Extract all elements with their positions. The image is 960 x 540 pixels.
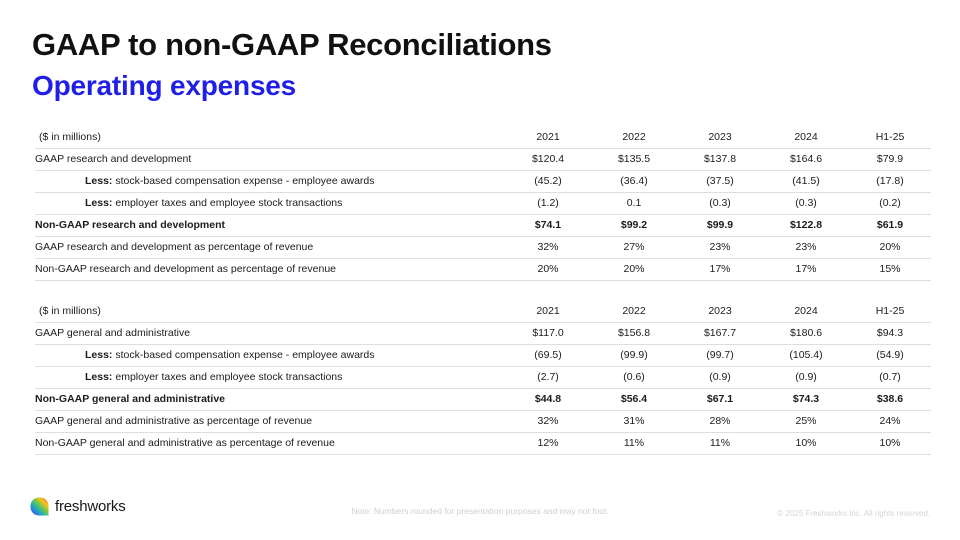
cell-2022: 20%: [591, 258, 677, 280]
cell-2024: $164.6: [763, 148, 849, 170]
cell-2022: $135.5: [591, 148, 677, 170]
cell-2022: 31%: [591, 410, 677, 432]
column-header-2023: 2023: [677, 126, 763, 148]
column-header-2022: 2022: [591, 300, 677, 322]
row-label: GAAP research and development as percent…: [35, 236, 505, 258]
table-row: GAAP research and development$120.4$135.…: [35, 148, 931, 170]
financial-table: ($ in millions)2021202220232024H1-25GAAP…: [35, 300, 931, 455]
row-label-prefix: Less:: [85, 349, 112, 361]
table-row: Non-GAAP research and development as per…: [35, 258, 931, 280]
cell-2022: $56.4: [591, 388, 677, 410]
row-label-prefix: Less:: [85, 175, 112, 187]
cell-2022: 27%: [591, 236, 677, 258]
cell-2024: (41.5): [763, 170, 849, 192]
cell-2023: (0.9): [677, 366, 763, 388]
cell-2023: (37.5): [677, 170, 763, 192]
cell-2023: 28%: [677, 410, 763, 432]
column-header-2023: 2023: [677, 300, 763, 322]
table-row: Less: stock-based compensation expense -…: [35, 344, 931, 366]
table-row: Less: employer taxes and employee stock …: [35, 192, 931, 214]
cell-2023: (0.3): [677, 192, 763, 214]
cell-2021: 32%: [505, 410, 591, 432]
row-label-prefix: Less:: [85, 197, 112, 209]
cell-h1-25: (0.7): [849, 366, 931, 388]
row-label: GAAP research and development: [35, 148, 505, 170]
units-label: ($ in millions): [35, 126, 505, 148]
cell-2021: 20%: [505, 258, 591, 280]
footer-copyright: © 2025 Freshworks Inc. All rights reserv…: [777, 509, 930, 518]
column-header-2024: 2024: [763, 126, 849, 148]
cell-2022: (99.9): [591, 344, 677, 366]
cell-2021: $117.0: [505, 322, 591, 344]
column-header-h1-25: H1-25: [849, 300, 931, 322]
cell-2024: $74.3: [763, 388, 849, 410]
cell-h1-25: 24%: [849, 410, 931, 432]
table-row: GAAP research and development as percent…: [35, 236, 931, 258]
cell-2023: (99.7): [677, 344, 763, 366]
cell-2024: (0.9): [763, 366, 849, 388]
table-header-row: ($ in millions)2021202220232024H1-25: [35, 126, 931, 148]
table-row: GAAP general and administrative$117.0$15…: [35, 322, 931, 344]
table-header-row: ($ in millions)2021202220232024H1-25: [35, 300, 931, 322]
row-label: Non-GAAP general and administrative: [35, 388, 505, 410]
cell-2024: $122.8: [763, 214, 849, 236]
table-row: Less: stock-based compensation expense -…: [35, 170, 931, 192]
page-title: GAAP to non-GAAP Reconciliations: [32, 26, 552, 64]
cell-h1-25: (17.8): [849, 170, 931, 192]
cell-2021: 12%: [505, 432, 591, 454]
slide-root: GAAP to non-GAAP Reconciliations Operati…: [0, 0, 960, 540]
cell-2023: $67.1: [677, 388, 763, 410]
table-row: Non-GAAP general and administrative as p…: [35, 432, 931, 454]
cell-2022: $156.8: [591, 322, 677, 344]
cell-2024: 17%: [763, 258, 849, 280]
cell-2023: $167.7: [677, 322, 763, 344]
cell-2024: 23%: [763, 236, 849, 258]
cell-2021: 32%: [505, 236, 591, 258]
cell-2024: $180.6: [763, 322, 849, 344]
cell-h1-25: $79.9: [849, 148, 931, 170]
cell-h1-25: $61.9: [849, 214, 931, 236]
cell-2021: $44.8: [505, 388, 591, 410]
table-row: GAAP general and administrative as perce…: [35, 410, 931, 432]
title-block: GAAP to non-GAAP Reconciliations Operati…: [32, 26, 552, 104]
row-label: Non-GAAP research and development: [35, 214, 505, 236]
cell-2022: (0.6): [591, 366, 677, 388]
cell-h1-25: (54.9): [849, 344, 931, 366]
cell-2022: (36.4): [591, 170, 677, 192]
cell-h1-25: 15%: [849, 258, 931, 280]
column-header-2022: 2022: [591, 126, 677, 148]
financial-table: ($ in millions)2021202220232024H1-25GAAP…: [35, 126, 931, 281]
row-label-prefix: Less:: [85, 371, 112, 383]
cell-2021: (1.2): [505, 192, 591, 214]
reconciliation-table-research-development: ($ in millions)2021202220232024H1-25GAAP…: [35, 126, 931, 281]
cell-2024: 10%: [763, 432, 849, 454]
cell-2023: $137.8: [677, 148, 763, 170]
cell-2021: (45.2): [505, 170, 591, 192]
cell-h1-25: $94.3: [849, 322, 931, 344]
table-row: Less: employer taxes and employee stock …: [35, 366, 931, 388]
row-label: Less: stock-based compensation expense -…: [35, 170, 505, 192]
row-label: GAAP general and administrative: [35, 322, 505, 344]
page-subtitle: Operating expenses: [32, 68, 552, 104]
column-header-2021: 2021: [505, 126, 591, 148]
table-row: Non-GAAP general and administrative$44.8…: [35, 388, 931, 410]
row-label: Non-GAAP general and administrative as p…: [35, 432, 505, 454]
cell-2023: 23%: [677, 236, 763, 258]
row-label: Less: employer taxes and employee stock …: [35, 366, 505, 388]
cell-2023: 17%: [677, 258, 763, 280]
row-label: Non-GAAP research and development as per…: [35, 258, 505, 280]
units-label: ($ in millions): [35, 300, 505, 322]
cell-2022: $99.2: [591, 214, 677, 236]
cell-2021: (2.7): [505, 366, 591, 388]
cell-h1-25: 10%: [849, 432, 931, 454]
row-label: Less: stock-based compensation expense -…: [35, 344, 505, 366]
cell-2021: $74.1: [505, 214, 591, 236]
column-header-2021: 2021: [505, 300, 591, 322]
cell-h1-25: $38.6: [849, 388, 931, 410]
cell-2023: $99.9: [677, 214, 763, 236]
column-header-h1-25: H1-25: [849, 126, 931, 148]
cell-2022: 11%: [591, 432, 677, 454]
cell-2021: $120.4: [505, 148, 591, 170]
cell-2022: 0.1: [591, 192, 677, 214]
cell-2024: (0.3): [763, 192, 849, 214]
cell-2024: 25%: [763, 410, 849, 432]
cell-h1-25: (0.2): [849, 192, 931, 214]
reconciliation-table-general-administrative: ($ in millions)2021202220232024H1-25GAAP…: [35, 300, 931, 455]
cell-2024: (105.4): [763, 344, 849, 366]
cell-h1-25: 20%: [849, 236, 931, 258]
table-row: Non-GAAP research and development$74.1$9…: [35, 214, 931, 236]
row-label: GAAP general and administrative as perce…: [35, 410, 505, 432]
cell-2021: (69.5): [505, 344, 591, 366]
column-header-2024: 2024: [763, 300, 849, 322]
row-label: Less: employer taxes and employee stock …: [35, 192, 505, 214]
cell-2023: 11%: [677, 432, 763, 454]
